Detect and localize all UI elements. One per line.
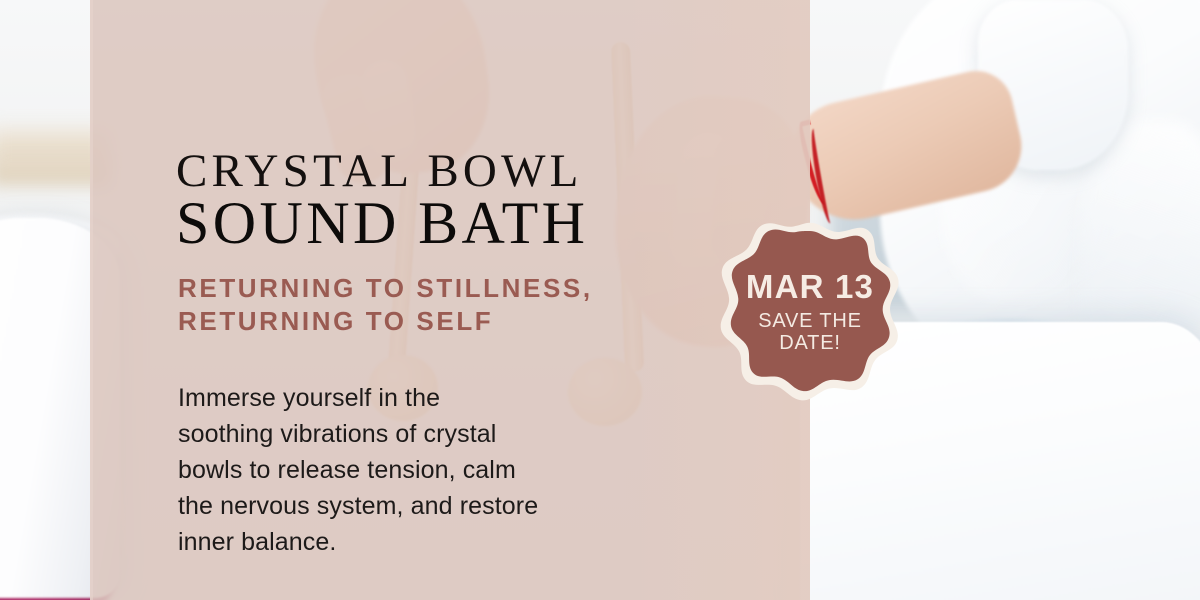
poster-subtitle: RETURNING TO STILLNESS, RETURNING TO SEL…	[178, 272, 593, 339]
save-the-date-badge: MAR 13 SAVE THE DATE!	[718, 220, 902, 404]
poster-title-line-2: SOUND BATH	[176, 193, 588, 253]
poster-body-copy: Immerse yourself in the soothing vibrati…	[178, 380, 608, 560]
poster-text-block: CRYSTAL BOWL SOUND BATH RETURNING TO STI…	[176, 0, 796, 600]
poster-title-line-1: CRYSTAL BOWL	[176, 148, 583, 195]
scalloped-seal-icon	[718, 220, 902, 404]
pink-overlay-left-edge	[90, 0, 93, 600]
event-poster: CRYSTAL BOWL SOUND BATH RETURNING TO STI…	[0, 0, 1200, 600]
